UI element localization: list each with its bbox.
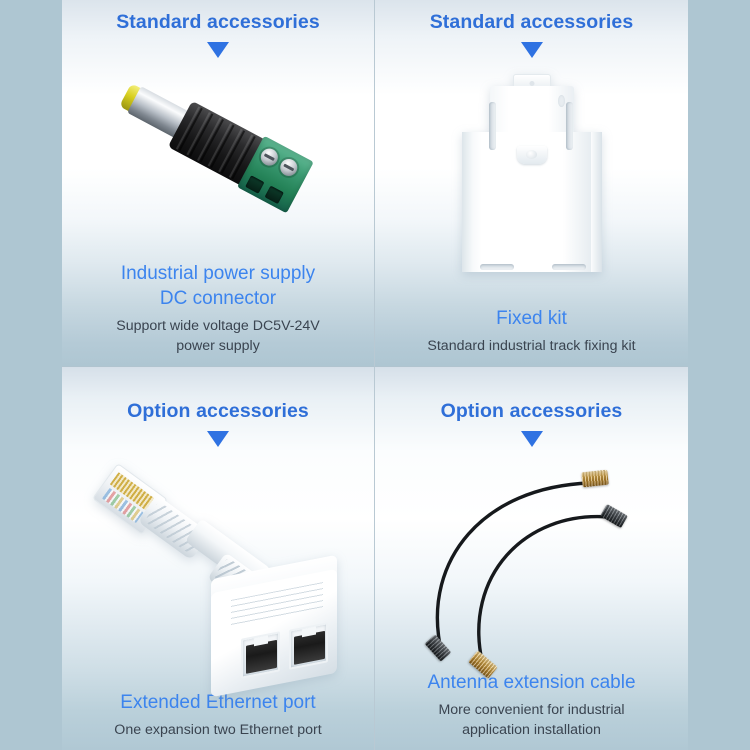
rj45-jack — [241, 632, 280, 680]
panel-antenna-extension-cable: Option accessories Antenna extension cab… — [375, 367, 688, 750]
caption-dc-connector: Industrial power supply DC connector Sup… — [62, 261, 374, 366]
terminal-wire-hole — [265, 186, 284, 205]
fixed-kit-bottom-slot — [480, 264, 514, 270]
down-triangle-icon — [521, 431, 543, 447]
panel-kicker-option-2: Option accessories — [441, 400, 623, 423]
coax-cable-arcs — [412, 465, 652, 689]
panel-kicker-standard-2: Standard accessories — [430, 11, 634, 34]
accessories-grid: Standard accessories — [62, 0, 688, 750]
panel-dc-connector: Standard accessories — [62, 0, 375, 367]
panel-extended-ethernet-port: Option accessories Extended Ethernet por… — [62, 367, 375, 750]
product-subtitle: Support wide voltage DC5V-24V power supp… — [62, 316, 374, 356]
panel-kicker-standard-1: Standard accessories — [116, 11, 320, 34]
fixed-kit-center-clip — [517, 146, 547, 164]
product-image-fixed-kit — [375, 58, 688, 305]
down-triangle-icon — [207, 431, 229, 447]
fixed-kit-vertical-slot — [489, 102, 496, 150]
product-image-ethernet-splitter — [62, 447, 374, 689]
product-image-dc-connector — [62, 58, 374, 260]
product-title: Fixed kit — [375, 306, 688, 331]
down-triangle-icon — [521, 42, 543, 58]
sma-gold-connector — [581, 470, 608, 488]
product-subtitle: Standard industrial track fixing kit — [375, 336, 688, 356]
product-title: Industrial power supply DC connector — [62, 261, 374, 311]
terminal-screw — [277, 156, 300, 179]
panel-kicker-option-1: Option accessories — [127, 400, 309, 423]
fixed-kit-vertical-slot — [566, 102, 573, 150]
rj45-ethernet-splitter-icon — [93, 471, 343, 701]
antenna-extension-cable-icon — [412, 465, 652, 689]
panel-fixed-kit: Standard accessories Fixed kit Standard … — [375, 0, 688, 367]
terminal-screw — [258, 146, 281, 169]
caption-fixed-kit: Fixed kit Standard industrial track fixi… — [375, 306, 688, 366]
product-subtitle: More convenient for industrial applicati… — [375, 700, 688, 740]
fixed-kit-bottom-slot — [552, 264, 586, 270]
product-subtitle: One expansion two Ethernet port — [62, 720, 374, 740]
accessories-infographic-page: { "theme": { "page_background": "#aec6d2… — [0, 0, 750, 750]
din-rail-fixed-kit-icon — [462, 74, 602, 284]
product-image-antenna-cable — [375, 447, 688, 669]
rj45-jack — [289, 623, 328, 671]
dc-power-connector-icon — [110, 67, 325, 222]
terminal-wire-hole — [245, 176, 264, 195]
down-triangle-icon — [207, 42, 229, 58]
